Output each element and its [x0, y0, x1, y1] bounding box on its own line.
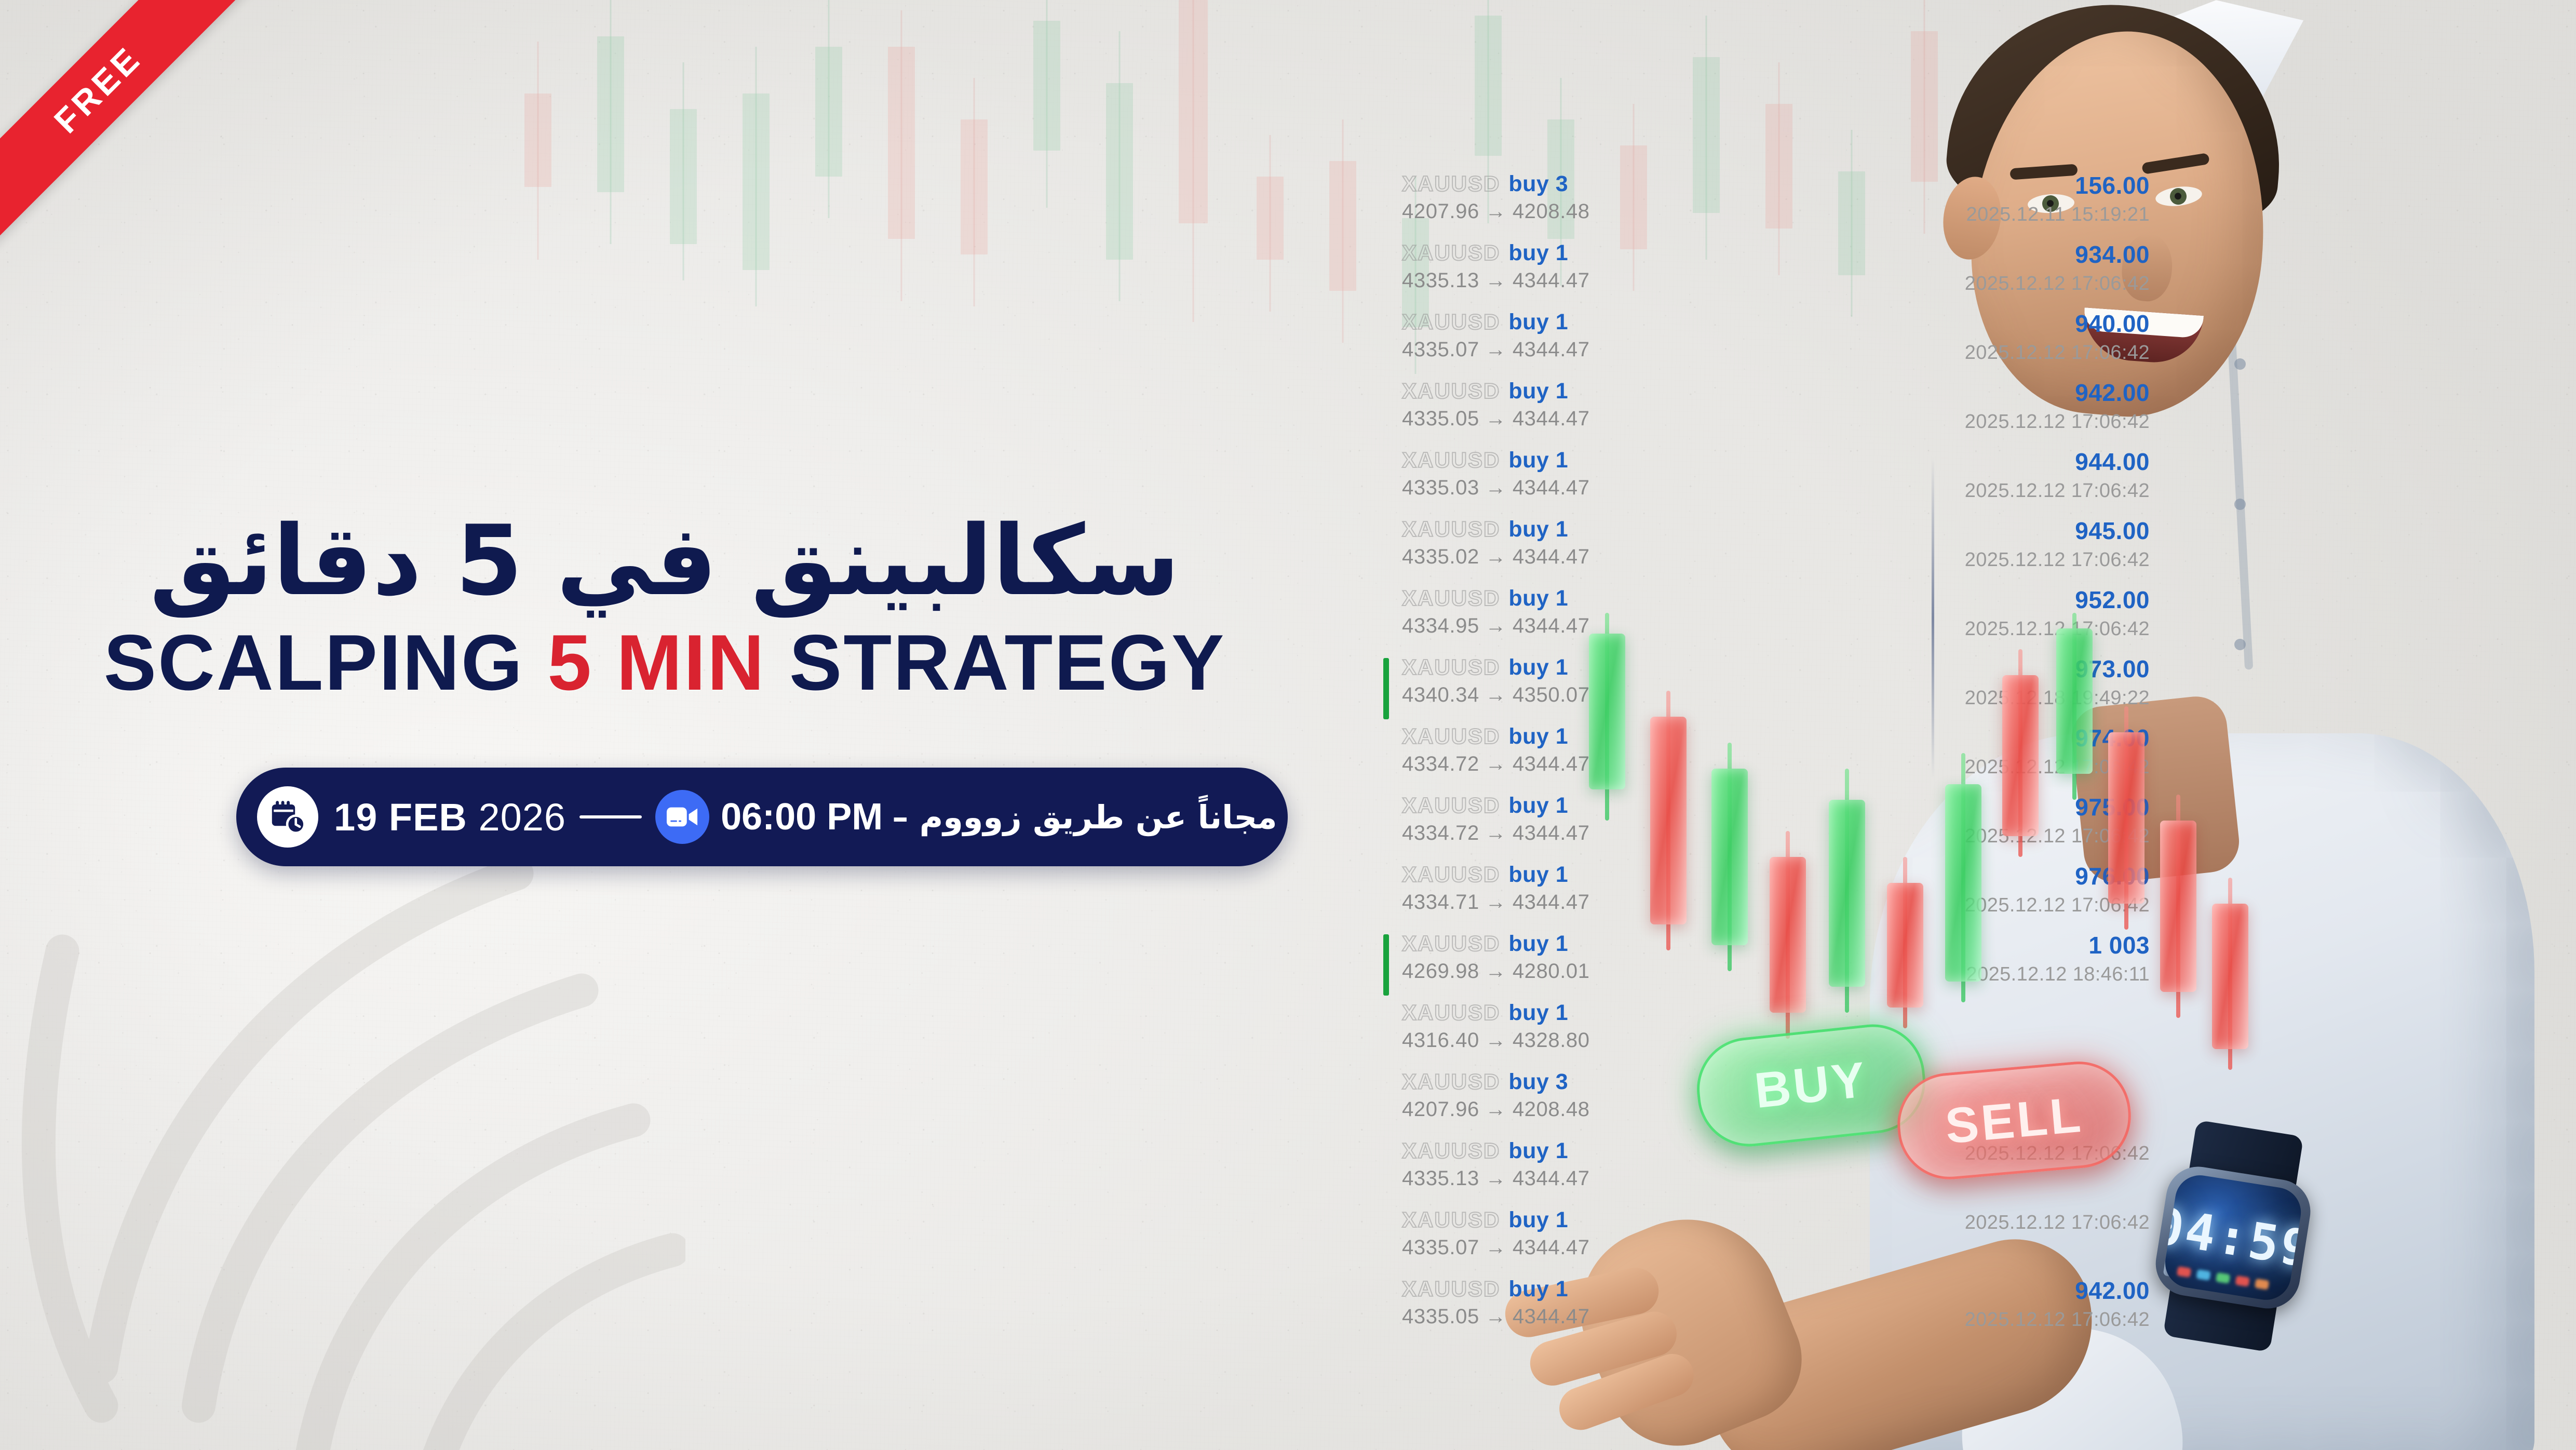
candlestick-up: [1711, 613, 1748, 1101]
headline-english-post: STRATEGY: [789, 623, 1225, 703]
background-candlestick-dn: [1329, 0, 1356, 395]
trade-side-volume: buy 3: [1508, 171, 1568, 197]
trade-symbol: XAUUSD: [1402, 379, 1500, 404]
trade-side-volume: buy 1: [1508, 586, 1568, 611]
event-date-year: 2026: [478, 796, 566, 839]
candlestick-up: [2056, 613, 2093, 1101]
candlestick-dn: [2108, 613, 2145, 1101]
trade-price-range: 4335.07 → 4344.47: [1402, 1236, 2165, 1259]
background-candlestick-up: [815, 0, 842, 395]
trade-side-volume: buy 3: [1508, 1069, 1568, 1095]
sell-button-label: SELL: [1943, 1086, 2085, 1155]
trade-result: 942.002025.12.12 17:06:42: [1786, 1277, 2150, 1331]
buy-button-label: BUY: [1752, 1051, 1870, 1120]
headline-english-pre: SCALPING: [104, 623, 524, 703]
trade-row: XAUUSDbuy 34207.96 → 4208.48156.002025.1…: [1402, 171, 2165, 240]
video-camera-icon: [655, 790, 709, 844]
webinar-banner: 04:59 XAUUSDbuy 34207.96 → 4208.48156.00…: [0, 0, 2576, 1450]
trade-row: XAUUSDbuy 14335.07 → 4344.472025.12.12 1…: [1402, 1207, 2165, 1277]
trade-symbol: XAUUSD: [1402, 793, 1500, 818]
trade-profit: 944.00: [1786, 448, 2150, 476]
trade-side-volume: buy 1: [1508, 931, 1568, 957]
trade-timestamp: 2025.12.12 17:06:42: [1786, 273, 2150, 295]
trade-profit: 945.00: [1786, 517, 2150, 545]
event-date-day: 19 FEB: [334, 796, 467, 839]
shirt-button: [2234, 499, 2246, 510]
trade-timestamp: 2025.12.12 17:06:42: [1786, 342, 2150, 364]
trade-result: 945.002025.12.12 17:06:42: [1786, 517, 2150, 571]
trade-side-volume: buy 1: [1508, 655, 1568, 680]
calendar-clock-icon: [257, 786, 318, 848]
trade-symbol: XAUUSD: [1402, 310, 1500, 334]
floating-candlestick-chart: [1589, 613, 2264, 1101]
trade-symbol: XAUUSD: [1402, 1069, 1500, 1094]
candlestick-dn: [1650, 613, 1687, 1101]
trade-timestamp: 2025.12.12 17:06:42: [1786, 1212, 2150, 1234]
candlestick-up: [1589, 613, 1625, 1101]
trade-symbol: XAUUSD: [1402, 724, 1500, 749]
trade-timestamp: 2025.12.12 17:06:42: [1786, 1309, 2150, 1331]
trade-result: 2025.12.12 17:06:42: [1786, 1207, 2150, 1234]
candlestick-dn: [2212, 613, 2248, 1101]
headline-arabic: سكالبينق في 5 دقائق: [0, 509, 1329, 613]
trade-profit: 156.00: [1786, 171, 2150, 199]
trade-profit: 952.00: [1786, 586, 2150, 614]
background-candlestick-up: [670, 0, 697, 395]
candlestick-dn: [2160, 613, 2196, 1101]
headline-english: SCALPING 5 MIN STRATEGY: [0, 623, 1329, 703]
trade-symbol: XAUUSD: [1402, 1277, 1500, 1301]
trade-result: 942.002025.12.12 17:06:42: [1786, 379, 2150, 433]
watch-time-display: 04:59: [2162, 1196, 2304, 1279]
pill-divider-dash: [579, 815, 642, 818]
trade-symbol: XAUUSD: [1402, 586, 1500, 611]
trade-side-volume: buy 1: [1508, 1277, 1568, 1302]
background-candlestick-dn: [961, 0, 988, 395]
trade-row: XAUUSDbuy 14335.13 → 4344.47934.002025.1…: [1402, 240, 2165, 310]
trade-side-volume: buy 1: [1508, 724, 1568, 749]
free-ribbon-label: FREE: [46, 38, 149, 141]
event-access-note: مجاناً عن طريق زوووم – 06:00 PM: [721, 796, 1277, 838]
headline-block: سكالبينق في 5 دقائق SCALPING 5 MIN STRAT…: [0, 509, 1329, 703]
background-candlestick-up: [1106, 0, 1133, 395]
trade-side-volume: buy 1: [1508, 1000, 1568, 1026]
trade-symbol: XAUUSD: [1402, 1207, 1500, 1232]
event-access-arabic: مجاناً عن طريق زوووم –: [892, 798, 1277, 836]
trade-profit-accent-bar: [1383, 658, 1389, 719]
trade-result: 156.002025.12.11 15:19:21: [1786, 171, 2150, 226]
background-candlestick-up: [743, 0, 770, 395]
brand-watermark-icon: [0, 796, 685, 1450]
background-candlestick-dn: [524, 0, 551, 395]
trade-symbol: XAUUSD: [1402, 240, 1500, 265]
trade-row: XAUUSDbuy 14335.05 → 4344.47942.002025.1…: [1402, 379, 2165, 448]
trade-side-volume: buy 1: [1508, 448, 1568, 473]
watch-screen: 04:59: [2162, 1172, 2304, 1303]
trade-profit-accent-bar: [1383, 934, 1389, 996]
event-time: 06:00 PM: [721, 796, 883, 838]
trade-row: XAUUSDbuy 14335.07 → 4344.47940.002025.1…: [1402, 310, 2165, 379]
trade-symbol: XAUUSD: [1402, 1000, 1500, 1025]
watch-case: 04:59: [2151, 1162, 2315, 1313]
background-candlestick-dn: [1257, 0, 1284, 395]
trade-timestamp: 2025.12.11 15:19:21: [1786, 204, 2150, 226]
trade-timestamp: 2025.12.12 17:06:42: [1786, 411, 2150, 433]
trade-symbol: XAUUSD: [1402, 655, 1500, 680]
candlestick-dn: [1770, 613, 1806, 1101]
trade-profit: 934.00: [1786, 240, 2150, 268]
trade-side-volume: buy 1: [1508, 240, 1568, 266]
trade-side-volume: buy 1: [1508, 793, 1568, 818]
trade-row: XAUUSDbuy 14335.03 → 4344.47944.002025.1…: [1402, 448, 2165, 517]
trade-symbol: XAUUSD: [1402, 448, 1500, 473]
trade-result: 940.002025.12.12 17:06:42: [1786, 310, 2150, 364]
trade-timestamp: 2025.12.12 17:06:42: [1786, 480, 2150, 502]
event-info-pill[interactable]: 19 FEB 2026 مجاناً عن طريق زوووم – 06:00…: [236, 768, 1288, 866]
shirt-button: [2234, 358, 2246, 370]
trade-symbol: XAUUSD: [1402, 862, 1500, 887]
trade-side-volume: buy 1: [1508, 1138, 1568, 1164]
candlestick-up: [1945, 613, 1981, 1101]
background-candlestick-dn: [1179, 0, 1208, 395]
trade-profit: 940.00: [1786, 310, 2150, 338]
background-candlestick-up: [597, 0, 624, 395]
trade-profit: 942.00: [1786, 1277, 2150, 1305]
event-date: 19 FEB 2026: [334, 795, 566, 839]
trade-side-volume: buy 1: [1508, 310, 1568, 335]
trade-timestamp: 2025.12.12 17:06:42: [1786, 549, 2150, 571]
background-candlestick-up: [1033, 0, 1060, 395]
trade-row: XAUUSDbuy 14335.02 → 4344.47945.002025.1…: [1402, 517, 2165, 586]
headline-english-accent: 5 MIN: [547, 623, 765, 703]
trade-result: 944.002025.12.12 17:06:42: [1786, 448, 2150, 502]
free-corner-ribbon: FREE: [0, 0, 258, 249]
trade-row: XAUUSDbuy 14335.05 → 4344.47942.002025.1…: [1402, 1277, 2165, 1346]
trade-side-volume: buy 1: [1508, 1207, 1568, 1233]
trade-profit: 942.00: [1786, 379, 2150, 407]
candlestick-dn: [2002, 613, 2039, 1101]
trade-symbol: XAUUSD: [1402, 517, 1500, 542]
trade-side-volume: buy 1: [1508, 379, 1568, 404]
trade-side-volume: buy 1: [1508, 517, 1568, 542]
trade-side-volume: buy 1: [1508, 862, 1568, 888]
background-candlestick-dn: [888, 0, 915, 395]
trade-symbol: XAUUSD: [1402, 171, 1500, 196]
trade-result: 934.002025.12.12 17:06:42: [1786, 240, 2150, 295]
trade-symbol: XAUUSD: [1402, 1138, 1500, 1163]
trade-symbol: XAUUSD: [1402, 931, 1500, 956]
